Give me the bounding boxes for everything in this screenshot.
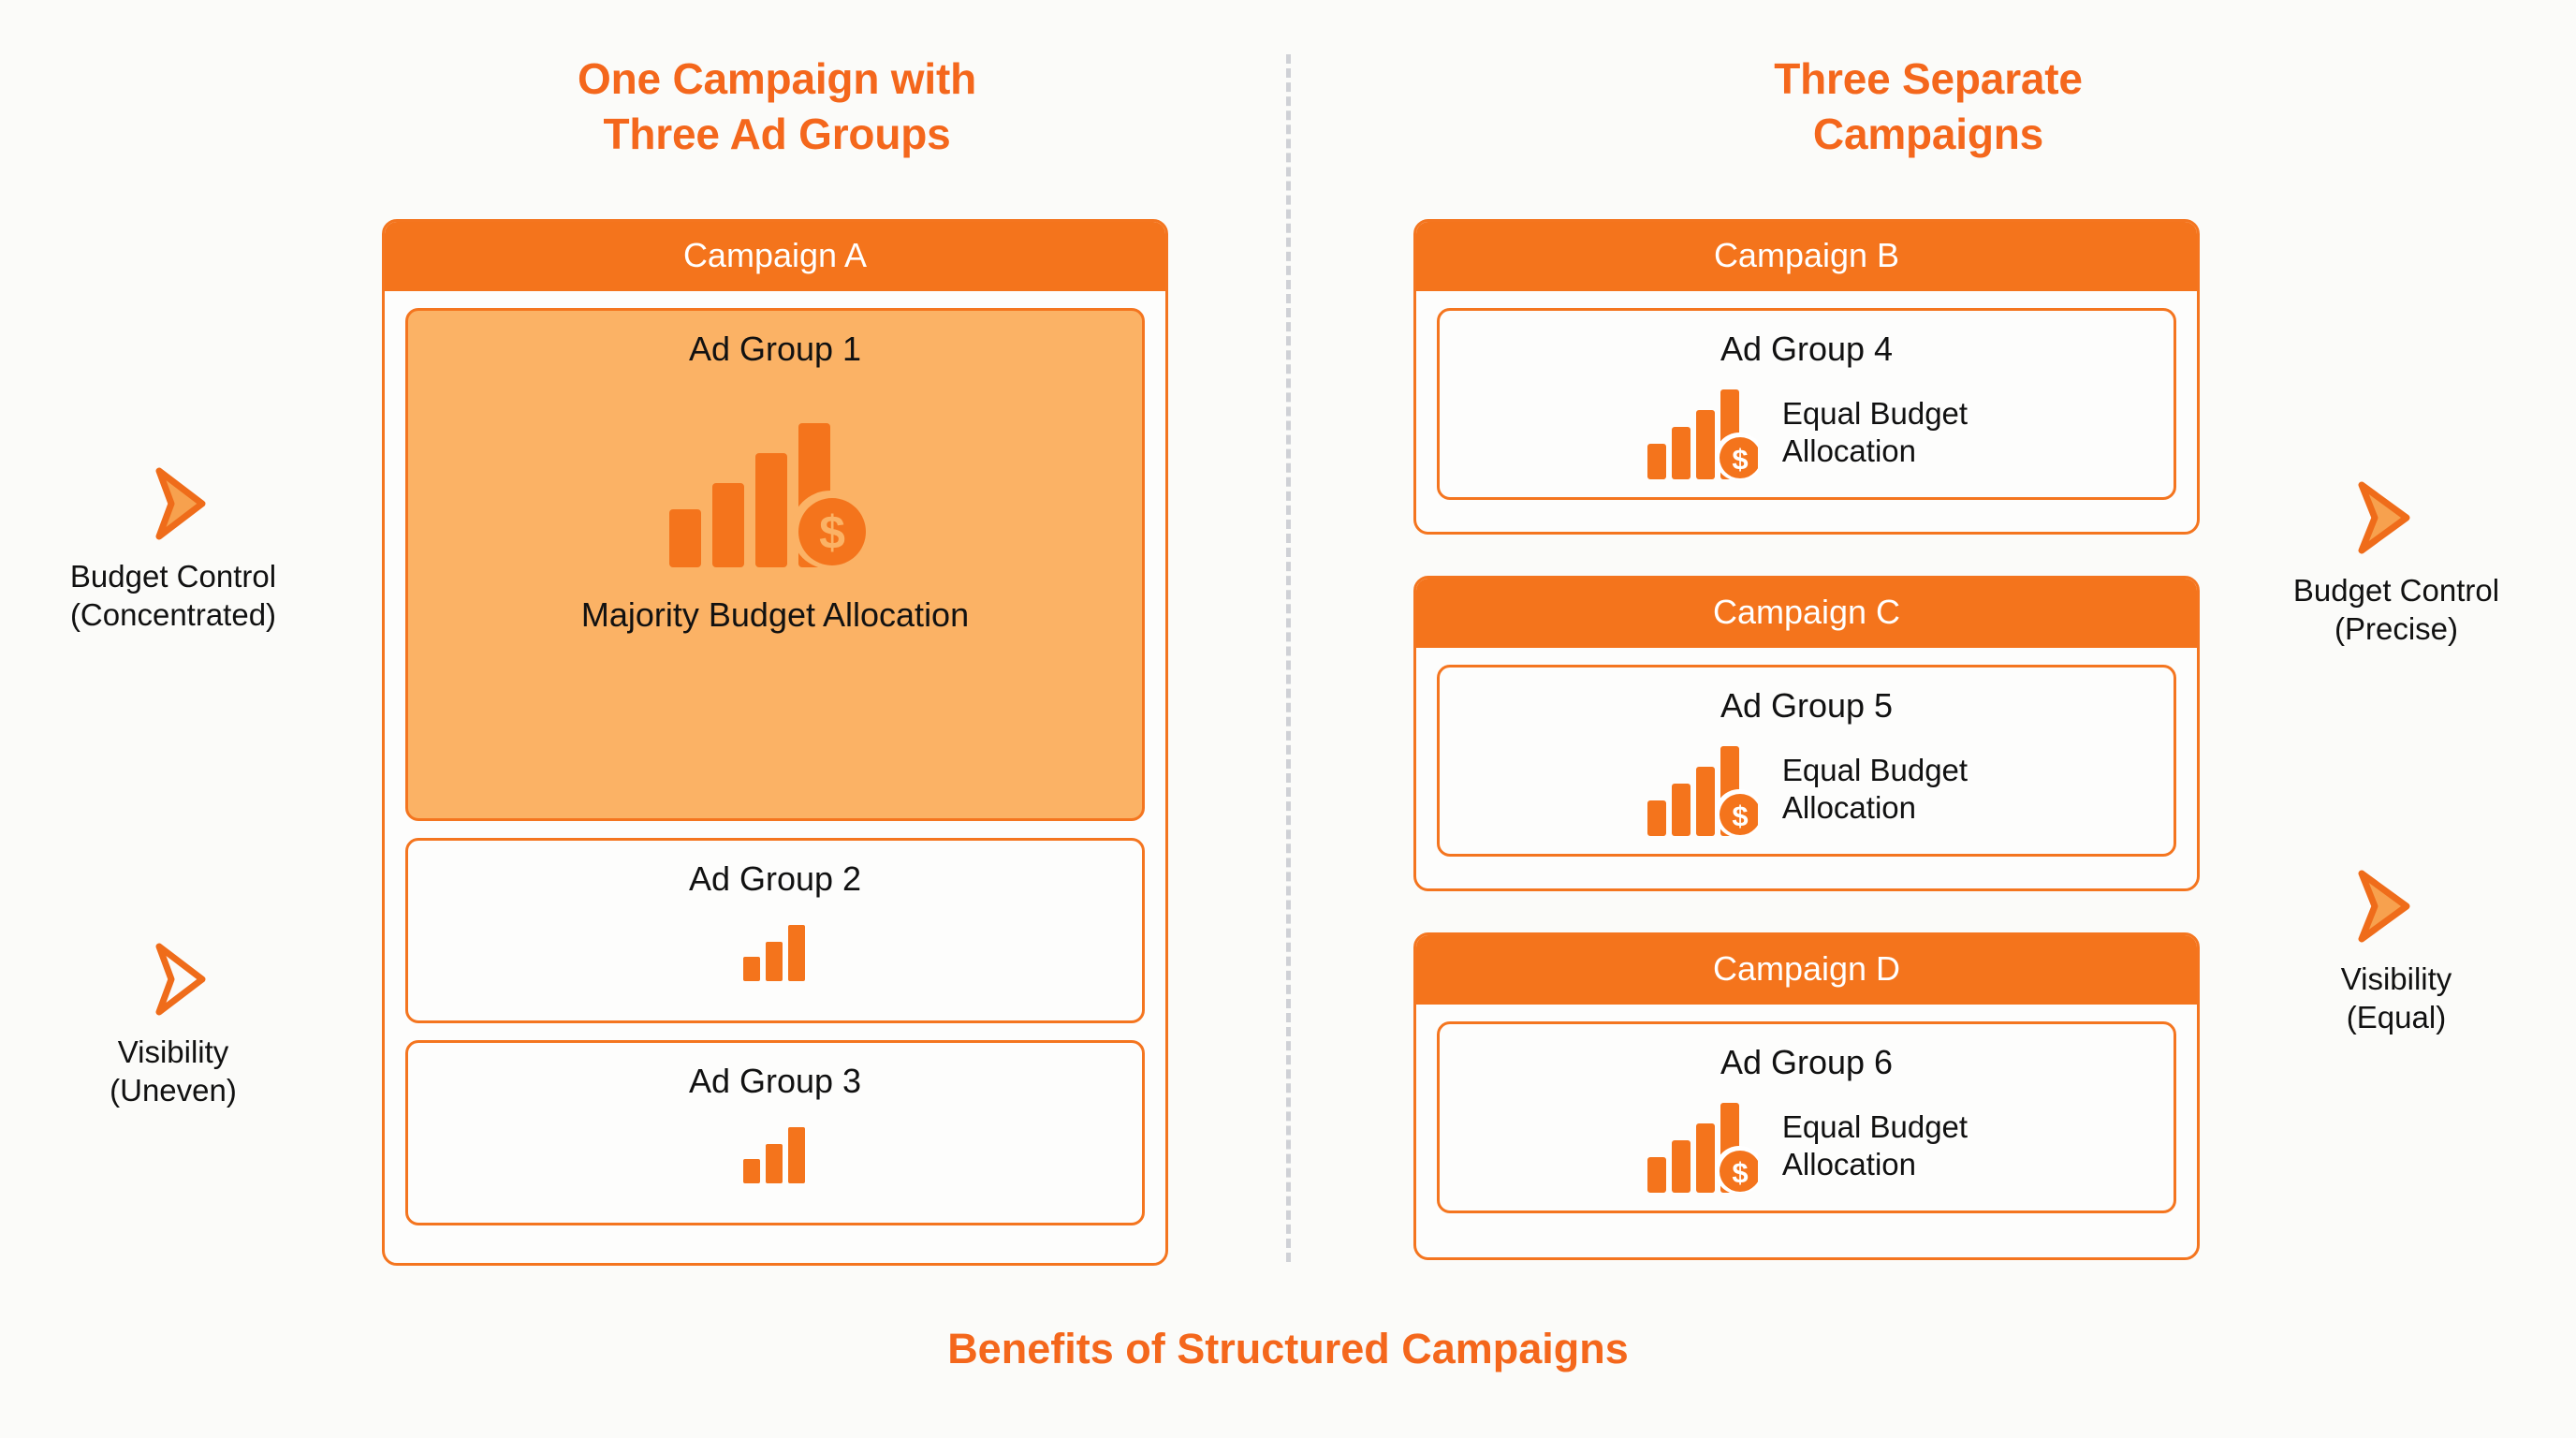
ad-group-5-title: Ad Group 5	[1440, 668, 2173, 726]
ad-group-6-caption: Equal Budget Allocation	[1782, 1108, 1968, 1184]
ad-group-4-title: Ad Group 4	[1440, 311, 2173, 369]
bar-chart-with-coin-icon: $	[667, 418, 883, 567]
svg-text:$: $	[1732, 443, 1748, 476]
right-column-title: Three Separate Campaigns	[1573, 51, 2284, 162]
bar-chart-icon	[741, 1125, 809, 1183]
ad-group-2-chart	[408, 916, 1142, 981]
ad-group-5-caption: Equal Budget Allocation	[1782, 752, 1968, 828]
annotation-budget-control-precise: Budget Control (Precise)	[2242, 477, 2551, 649]
ad-group-1-chart: $	[408, 418, 1142, 567]
ad-group-card-2[interactable]: Ad Group 2	[405, 838, 1145, 1023]
annotation-label: Budget Control (Concentrated)	[19, 557, 328, 635]
ad-group-4-chart-row: $ Equal Budget Allocation	[1440, 382, 2173, 483]
campaign-card-c[interactable]: Campaign C Ad Group 5 $ Equal Budget All…	[1413, 576, 2200, 891]
campaign-a-header: Campaign A	[385, 222, 1165, 291]
bar-chart-with-coin-icon: $	[1646, 1099, 1758, 1193]
left-column-title: One Campaign with Three Ad Groups	[402, 51, 1151, 162]
campaign-b-body: Ad Group 4 $ Equal Budget Allocation	[1416, 291, 2197, 519]
ad-group-card-3[interactable]: Ad Group 3	[405, 1040, 1145, 1225]
arrow-right-icon	[19, 463, 328, 544]
ad-group-2-title: Ad Group 2	[408, 841, 1142, 899]
campaign-card-b[interactable]: Campaign B Ad Group 4 $ Equal Budget All…	[1413, 219, 2200, 535]
diagram-canvas: One Campaign with Three Ad Groups Three …	[0, 0, 2576, 1438]
campaign-a-body: Ad Group 1 $ Majority Budget Allocation	[385, 291, 1165, 1244]
campaign-card-a[interactable]: Campaign A Ad Group 1 $ Majority B	[382, 219, 1168, 1266]
annotation-label: Visibility (Uneven)	[19, 1033, 328, 1110]
ad-group-card-5[interactable]: Ad Group 5 $ Equal Budget Allocation	[1437, 665, 2176, 857]
ad-group-1-caption: Majority Budget Allocation	[408, 595, 1142, 635]
campaign-b-header: Campaign B	[1416, 222, 2197, 291]
annotation-label: Visibility (Equal)	[2242, 960, 2551, 1037]
ad-group-card-1[interactable]: Ad Group 1 $ Majority Budget Allocation	[405, 308, 1145, 821]
arrow-right-icon	[2242, 477, 2551, 558]
bar-chart-with-coin-icon: $	[1646, 386, 1758, 479]
bar-chart-icon	[741, 923, 809, 981]
bar-chart-with-coin-icon: $	[1646, 742, 1758, 836]
ad-group-6-chart-row: $ Equal Budget Allocation	[1440, 1095, 2173, 1196]
ad-group-card-4[interactable]: Ad Group 4 $ Equal Budget Allocation	[1437, 308, 2176, 500]
annotation-label: Budget Control (Precise)	[2242, 571, 2551, 649]
campaign-c-header: Campaign C	[1416, 579, 2197, 648]
campaign-d-header: Campaign D	[1416, 935, 2197, 1005]
ad-group-6-title: Ad Group 6	[1440, 1024, 2173, 1082]
svg-text:$: $	[1732, 800, 1748, 832]
ad-group-1-title: Ad Group 1	[408, 311, 1142, 369]
svg-text:$: $	[819, 506, 845, 559]
campaign-c-body: Ad Group 5 $ Equal Budget Allocation	[1416, 648, 2197, 875]
annotation-budget-control-concentrated: Budget Control (Concentrated)	[19, 463, 328, 635]
arrow-right-icon	[2242, 866, 2551, 946]
arrow-right-outline-icon	[19, 939, 328, 1020]
annotation-visibility-equal: Visibility (Equal)	[2242, 866, 2551, 1037]
footer-title: Benefits of Structured Campaigns	[0, 1325, 2576, 1373]
ad-group-5-chart-row: $ Equal Budget Allocation	[1440, 739, 2173, 840]
ad-group-3-title: Ad Group 3	[408, 1043, 1142, 1101]
ad-group-card-6[interactable]: Ad Group 6 $ Equal Budget Allocation	[1437, 1021, 2176, 1213]
campaign-card-d[interactable]: Campaign D Ad Group 6 $ Equal Budget All…	[1413, 932, 2200, 1260]
campaign-d-body: Ad Group 6 $ Equal Budget Allocation	[1416, 1005, 2197, 1232]
annotation-visibility-uneven: Visibility (Uneven)	[19, 939, 328, 1110]
vertical-divider	[1286, 54, 1291, 1262]
svg-text:$: $	[1732, 1156, 1748, 1189]
ad-group-4-caption: Equal Budget Allocation	[1782, 395, 1968, 471]
ad-group-3-chart	[408, 1118, 1142, 1183]
